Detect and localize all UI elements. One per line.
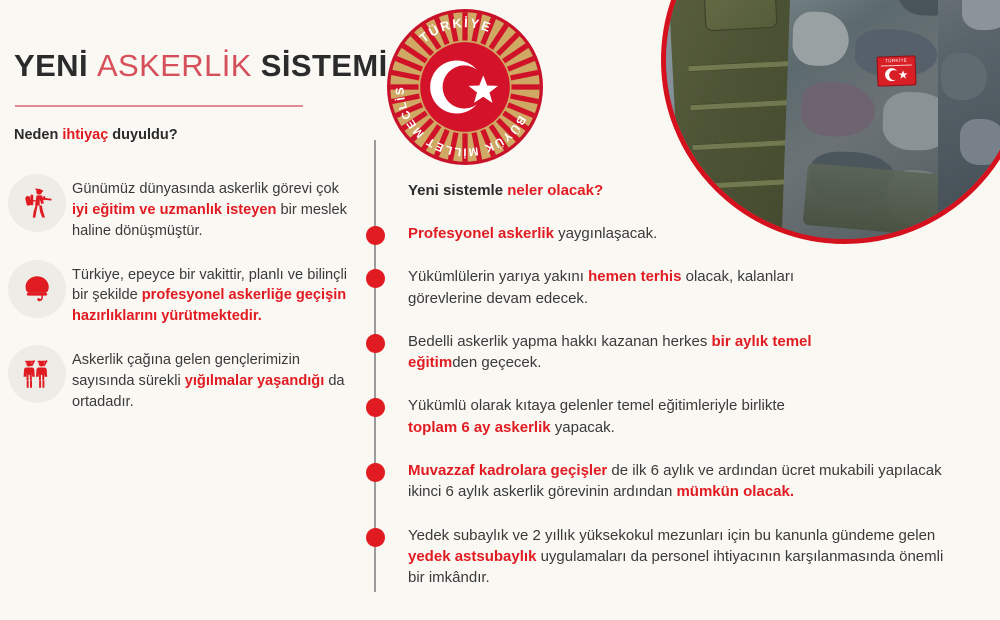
left-list-item-text: Türkiye, epeyce bir vakittir, planlı ve … <box>72 258 350 328</box>
timeline-item: Bedelli askerlik yapma hakkı kazanan her… <box>408 331 838 374</box>
timeline-dot <box>366 463 385 482</box>
timeline-item-1-segment-0: Yükümlülerin yarıya yakını <box>408 268 588 285</box>
icon-disc <box>8 345 66 403</box>
crescent-icon <box>885 68 898 81</box>
timeline-item: Muvazzaf kadrolara geçişler de ilk 6 ayl… <box>408 460 948 503</box>
icon-disc <box>8 174 66 232</box>
timeline-item-5-segment-0: Yedek subaylık ve 2 yıllık yüksekokul me… <box>408 527 935 544</box>
timeline-item-2-segment-0: Bedelli askerlik yapma hakkı kazanan her… <box>408 333 712 350</box>
timeline-item: Yükümlülerin yarıya yakını hemen terhis … <box>408 266 838 309</box>
left-list-item: Günümüz dünyasında askerlik görevi çok i… <box>8 172 358 242</box>
timeline-item-4-segment-0: Muvazzaf kadrolara geçişler <box>408 462 607 479</box>
timeline-item-4-segment-2: mümkün olacak. <box>676 483 794 500</box>
timeline-dot <box>366 334 385 353</box>
soldier-photo: TÜRKİYE <box>661 0 1000 244</box>
timeline-dot <box>366 226 385 245</box>
timeline-item-0-segment-0: Profesyonel askerlik <box>408 225 554 242</box>
two-soldiers-icon <box>20 357 54 391</box>
subhead-post: duyuldu? <box>108 127 177 143</box>
title-word-sistemi: SİSTEMİ <box>252 48 388 83</box>
timeline-item-text: Profesyonel askerlik yaygınlaşacak. <box>408 225 657 242</box>
left-list-item: Askerlik çağına gelen gençlerimizin sayı… <box>8 343 358 413</box>
title-word-askerlik: ASKERLİK <box>97 48 252 83</box>
timeline-item-5-segment-1: yedek astsubaylık <box>408 548 536 565</box>
timeline-item: Yükümlü olarak kıtaya gelenler temel eği… <box>408 395 838 438</box>
subhead-pre: Neden <box>14 127 62 143</box>
timeline-item-text: Yükümlülerin yarıya yakını hemen terhis … <box>408 268 794 306</box>
left-item-0-segment-0: Günümüz dünyasında askerlik görevi çok <box>72 181 339 197</box>
timeline-item-list: Profesyonel askerlik yaygınlaşacak.Yüküm… <box>408 223 973 589</box>
timeline-item-0-segment-1: yaygınlaşacak. <box>554 225 657 242</box>
timeline-item-2-segment-2: den geçecek. <box>452 354 541 371</box>
left-list-item: Türkiye, epeyce bir vakittir, planlı ve … <box>8 258 358 328</box>
flag-patch-divider <box>881 64 912 66</box>
timeline-item-1-segment-1: hemen terhis <box>588 268 681 285</box>
timeline-axis <box>374 140 376 592</box>
turkiye-flag-patch: TÜRKİYE <box>877 56 917 87</box>
timeline-item-text: Yedek subaylık ve 2 yıllık yüksekokul me… <box>408 527 943 587</box>
right-column: Yeni sistemle neler olacak? Profesyonel … <box>408 182 973 611</box>
title-word-yeni: YENİ <box>14 48 97 83</box>
sleeve-band <box>803 162 949 236</box>
left-item-2-segment-1: yığılmalar yaşandığı <box>185 373 325 389</box>
left-column-heading: Neden ihtiyaç duyuldu? <box>14 127 178 143</box>
timeline-item-text: Bedelli askerlik yapma hakkı kazanan her… <box>408 333 812 371</box>
rhead-highlight: neler olacak? <box>507 182 603 199</box>
timeline-item-text: Yükümlü olarak kıtaya gelenler temel eği… <box>408 397 785 435</box>
timeline-dot <box>366 269 385 288</box>
left-bullet-list: Günümüz dünyasında askerlik görevi çok i… <box>8 172 358 429</box>
infographic-page: YENİ ASKERLİK SİSTEMİ Neden ihtiyaç duyu… <box>0 0 1000 620</box>
icon-disc <box>8 260 66 318</box>
left-list-item-text: Askerlik çağına gelen gençlerimizin sayı… <box>72 343 350 413</box>
timeline-item: Yedek subaylık ve 2 yıllık yüksekokul me… <box>408 525 948 589</box>
timeline-item-3-segment-0: Yükümlü olarak kıtaya gelenler temel eği… <box>408 397 785 414</box>
vest-pocket <box>701 0 778 31</box>
page-title: YENİ ASKERLİK SİSTEMİ <box>14 48 388 84</box>
title-divider <box>15 105 303 107</box>
timeline-item-3-segment-2: yapacak. <box>551 419 615 436</box>
soldier-with-rifle-icon <box>20 186 54 220</box>
timeline-item-3-segment-1: toplam 6 ay askerlik <box>408 419 551 436</box>
timeline-dot <box>366 398 385 417</box>
shoulder-panel <box>938 0 1000 225</box>
tbmm-emblem: TÜRKİYE BÜYÜK MİLLET MECLİSİ <box>382 4 548 170</box>
combat-helmet-icon <box>20 272 54 306</box>
left-item-0-segment-1: iyi eğitim ve uzmanlık isteyen <box>72 202 276 218</box>
rhead-pre: Yeni sistemle <box>408 182 507 199</box>
timeline-item-text: Muvazzaf kadrolara geçişler de ilk 6 ayl… <box>408 462 942 500</box>
subhead-highlight: ihtiyaç <box>62 127 108 143</box>
left-list-item-text: Günümüz dünyasında askerlik görevi çok i… <box>72 172 350 242</box>
timeline-dot <box>366 528 385 547</box>
